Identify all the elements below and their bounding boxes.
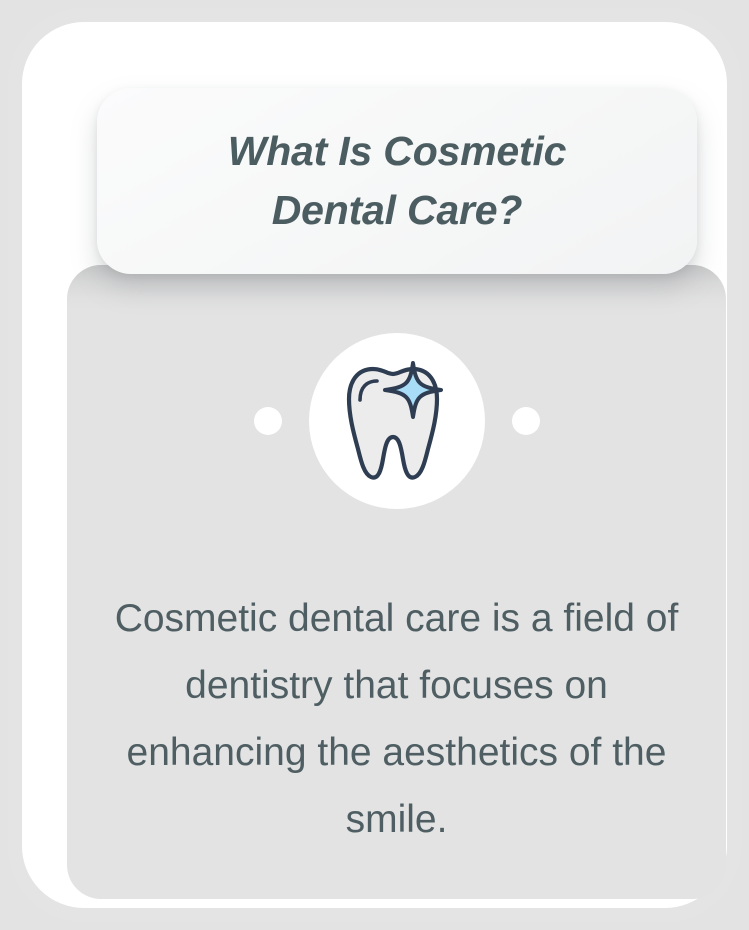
title-header-card: What Is Cosmetic Dental Care? (97, 88, 697, 274)
icon-badge (309, 333, 485, 509)
card-description: Cosmetic dental care is a field of denti… (101, 585, 692, 853)
content-card: Cosmetic dental care is a field of denti… (67, 265, 726, 899)
page-title: What Is Cosmetic Dental Care? (97, 122, 697, 240)
right-dot (512, 407, 540, 435)
left-dot (254, 407, 282, 435)
icon-row (67, 333, 726, 509)
infographic-card-shell: Cosmetic dental care is a field of denti… (8, 8, 741, 922)
sparkling-tooth-icon (343, 357, 451, 485)
